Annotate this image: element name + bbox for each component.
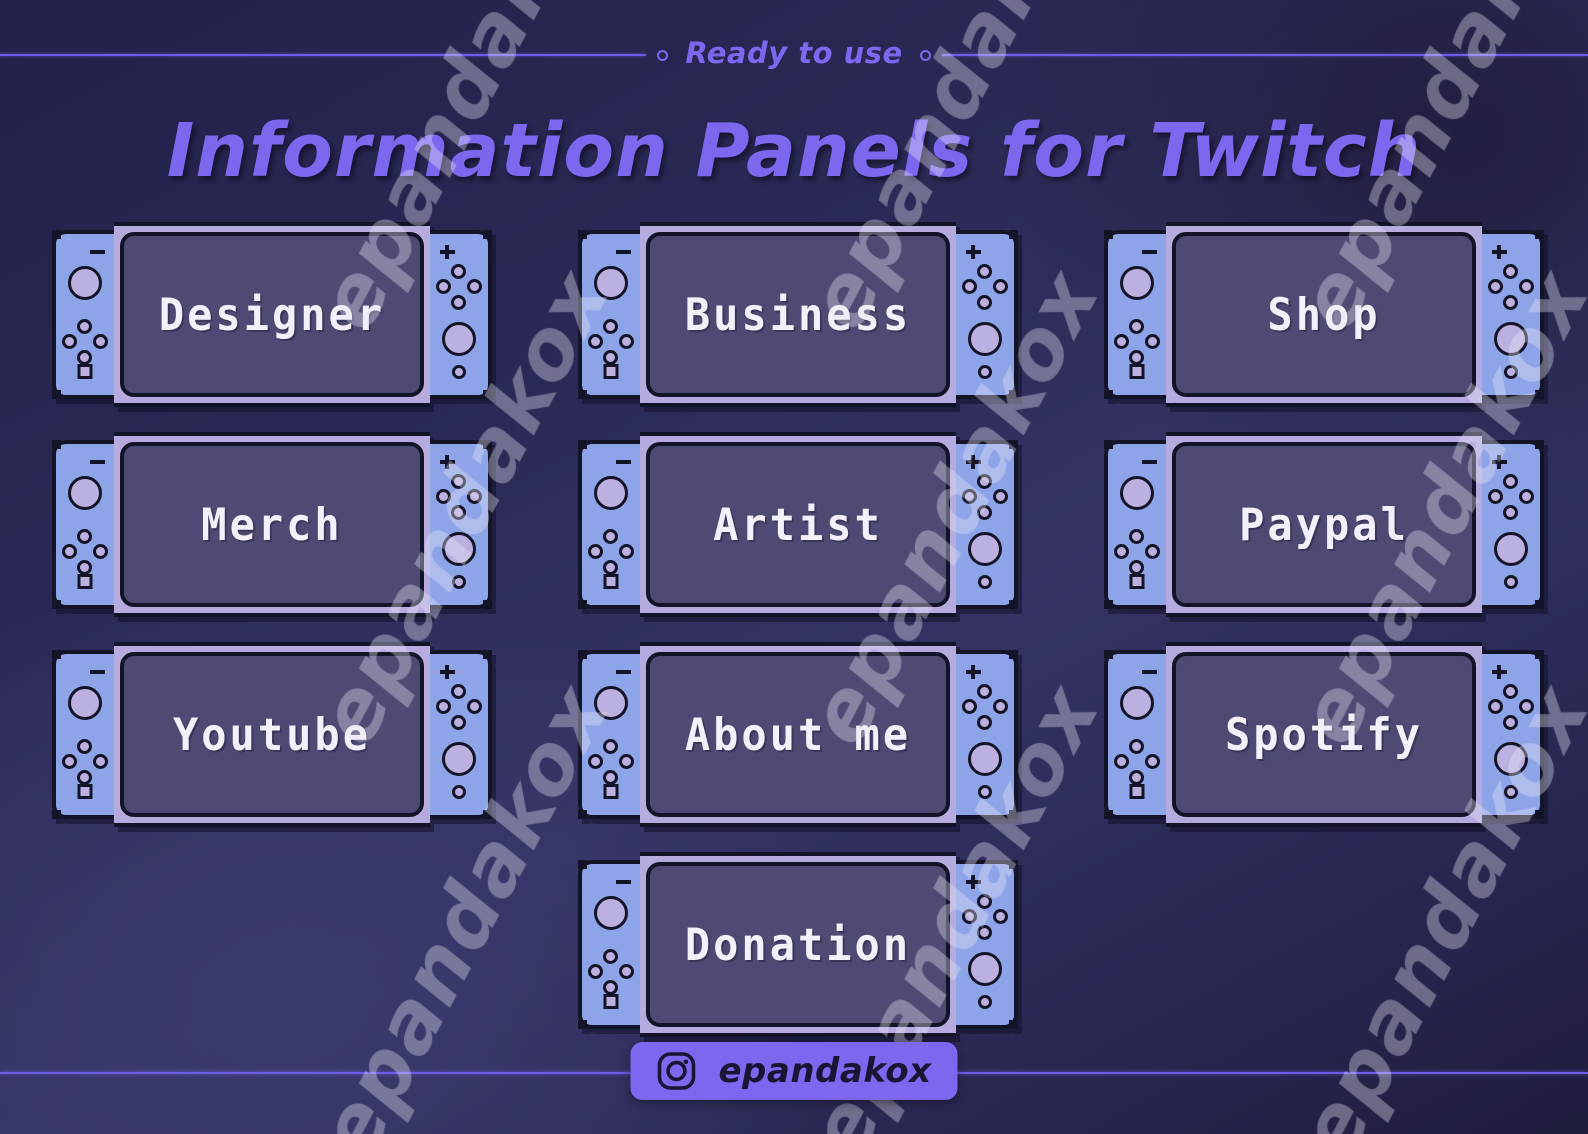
minus-button[interactable] [1141, 453, 1157, 469]
minus-button[interactable] [615, 453, 631, 469]
screen-display: Artist [646, 442, 950, 607]
corner-notch [578, 810, 587, 819]
home-circle-button[interactable] [1504, 575, 1518, 589]
screen-display: Designer [120, 232, 424, 397]
right-joycon[interactable] [956, 440, 1018, 609]
screen-bezel: Donation [640, 852, 956, 1037]
home-circle-button[interactable] [1504, 365, 1518, 379]
panel-shop[interactable]: Shop [1104, 222, 1544, 407]
instagram-handle-text: epandakox [718, 1051, 931, 1091]
corner-notch [483, 440, 492, 449]
analog-stick[interactable] [442, 322, 476, 356]
panel-artist[interactable]: Artist [578, 432, 1018, 617]
panel-business[interactable]: Business [578, 222, 1018, 407]
right-joycon[interactable] [1482, 440, 1544, 609]
corner-notch [1104, 600, 1113, 609]
right-joycon[interactable] [430, 230, 492, 399]
home-circle-button[interactable] [452, 785, 466, 799]
analog-stick[interactable] [968, 952, 1002, 986]
panel-label: Designer [159, 289, 385, 341]
capture-square-button[interactable] [604, 784, 619, 799]
dpad[interactable] [62, 739, 108, 785]
dpad[interactable] [588, 529, 634, 575]
panel-label: Paypal [1239, 499, 1409, 551]
dpad[interactable] [1114, 739, 1160, 785]
minus-button[interactable] [615, 243, 631, 259]
corner-notch [1009, 440, 1018, 449]
plus-button[interactable] [439, 243, 455, 259]
plus-button[interactable] [965, 663, 981, 679]
plus-button[interactable] [965, 243, 981, 259]
analog-stick[interactable] [442, 742, 476, 776]
analog-stick[interactable] [1494, 532, 1528, 566]
right-joycon[interactable] [956, 860, 1018, 1029]
corner-notch [1104, 440, 1113, 449]
analog-stick[interactable] [594, 896, 628, 930]
screen-bezel: Designer [114, 222, 430, 407]
panel-paypal[interactable]: Paypal [1104, 432, 1544, 617]
minus-button[interactable] [89, 453, 105, 469]
panel-merch[interactable]: Merch [52, 432, 492, 617]
analog-stick[interactable] [1494, 742, 1528, 776]
screen-bezel: Business [640, 222, 956, 407]
action-buttons[interactable] [436, 684, 482, 730]
plus-button[interactable] [965, 873, 981, 889]
right-joycon[interactable] [956, 650, 1018, 819]
left-joycon[interactable] [1104, 440, 1166, 609]
corner-notch [483, 600, 492, 609]
analog-stick[interactable] [1120, 476, 1154, 510]
minus-button[interactable] [615, 663, 631, 679]
screen-bezel: Merch [114, 432, 430, 617]
plus-button[interactable] [439, 663, 455, 679]
right-joycon[interactable] [1482, 230, 1544, 399]
corner-notch [483, 230, 492, 239]
minus-button[interactable] [1141, 243, 1157, 259]
screen-bezel: Youtube [114, 642, 430, 827]
instagram-icon [656, 1051, 696, 1091]
action-buttons[interactable] [1488, 474, 1534, 520]
corner-notch [1104, 390, 1113, 399]
panel-label: About me [685, 709, 911, 761]
panel-label: Spotify [1225, 709, 1423, 761]
action-buttons[interactable] [1488, 264, 1534, 310]
capture-square-button[interactable] [1130, 364, 1145, 379]
plus-button[interactable] [1491, 663, 1507, 679]
screen-bezel: Paypal [1166, 432, 1482, 617]
corner-notch [52, 440, 61, 449]
minus-button[interactable] [615, 873, 631, 889]
left-joycon[interactable] [1104, 650, 1166, 819]
dpad[interactable] [588, 949, 634, 995]
analog-stick[interactable] [594, 686, 628, 720]
circle-outline-icon [657, 50, 668, 61]
action-buttons[interactable] [436, 264, 482, 310]
corner-notch [1009, 600, 1018, 609]
corner-notch [1104, 650, 1113, 659]
plus-button[interactable] [965, 453, 981, 469]
screen-display: Business [646, 232, 950, 397]
screen-display: Paypal [1172, 442, 1476, 607]
action-buttons[interactable] [962, 264, 1008, 310]
corner-notch [1009, 390, 1018, 399]
minus-button[interactable] [1141, 663, 1157, 679]
right-joycon[interactable] [956, 230, 1018, 399]
analog-stick[interactable] [968, 322, 1002, 356]
corner-notch [578, 390, 587, 399]
right-joycon[interactable] [430, 650, 492, 819]
plus-button[interactable] [1491, 453, 1507, 469]
analog-stick[interactable] [968, 742, 1002, 776]
corner-notch [1535, 230, 1544, 239]
dpad[interactable] [62, 529, 108, 575]
corner-notch [483, 810, 492, 819]
panel-youtube[interactable]: Youtube [52, 642, 492, 827]
corner-notch [1009, 1020, 1018, 1029]
dpad[interactable] [62, 319, 108, 365]
dpad[interactable] [588, 319, 634, 365]
corner-notch [483, 390, 492, 399]
screen-bezel: About me [640, 642, 956, 827]
panel-spotify[interactable]: Spotify [1104, 642, 1544, 827]
left-joycon[interactable] [578, 650, 640, 819]
ready-to-use-label: Ready to use [679, 36, 908, 70]
screen-bezel: Artist [640, 432, 956, 617]
corner-notch [483, 650, 492, 659]
corner-notch [1535, 390, 1544, 399]
corner-notch [578, 1020, 587, 1029]
analog-stick[interactable] [968, 532, 1002, 566]
corner-notch [52, 810, 61, 819]
corner-notch [1009, 230, 1018, 239]
capture-square-button[interactable] [1130, 574, 1145, 589]
screen-display: Merch [120, 442, 424, 607]
divider-line-right [942, 54, 1588, 56]
dpad[interactable] [1114, 319, 1160, 365]
action-buttons[interactable] [962, 474, 1008, 520]
analog-stick[interactable] [1120, 686, 1154, 720]
minus-button[interactable] [89, 663, 105, 679]
capture-square-button[interactable] [78, 364, 93, 379]
analog-stick[interactable] [68, 686, 102, 720]
left-joycon[interactable] [578, 860, 640, 1029]
left-joycon[interactable] [578, 440, 640, 609]
screen-display: Spotify [1172, 652, 1476, 817]
left-joycon[interactable] [52, 650, 114, 819]
corner-notch [1009, 650, 1018, 659]
dpad[interactable] [588, 739, 634, 785]
analog-stick[interactable] [68, 476, 102, 510]
circle-outline-icon [920, 50, 931, 61]
panel-designer[interactable]: Designer [52, 222, 492, 407]
home-circle-button[interactable] [1504, 785, 1518, 799]
action-buttons[interactable] [1488, 684, 1534, 730]
corner-notch [1009, 810, 1018, 819]
analog-stick[interactable] [594, 266, 628, 300]
corner-notch [578, 230, 587, 239]
corner-notch [1535, 810, 1544, 819]
corner-notch [52, 650, 61, 659]
capture-square-button[interactable] [78, 574, 93, 589]
panel-grid: DesignerBusinessShopMerchArtistPaypalYou… [52, 222, 1536, 1037]
instagram-handle-badge[interactable]: epandakox [630, 1042, 957, 1100]
corner-notch [1104, 230, 1113, 239]
corner-notch [52, 390, 61, 399]
home-circle-button[interactable] [978, 575, 992, 589]
right-joycon[interactable] [1482, 650, 1544, 819]
corner-notch [578, 600, 587, 609]
panel-label: Shop [1267, 289, 1380, 341]
corner-notch [1009, 860, 1018, 869]
home-circle-button[interactable] [978, 995, 992, 1009]
top-divider: Ready to use [0, 54, 1588, 56]
panel-label: Youtube [173, 709, 371, 761]
corner-notch [578, 650, 587, 659]
analog-stick[interactable] [68, 266, 102, 300]
action-buttons[interactable] [962, 894, 1008, 940]
plus-button[interactable] [1491, 243, 1507, 259]
minus-button[interactable] [89, 243, 105, 259]
corner-notch [578, 440, 587, 449]
capture-square-button[interactable] [78, 784, 93, 799]
analog-stick[interactable] [1120, 266, 1154, 300]
corner-notch [1104, 810, 1113, 819]
corner-notch [52, 600, 61, 609]
panel-label: Artist [713, 499, 883, 551]
action-buttons[interactable] [436, 474, 482, 520]
analog-stick[interactable] [442, 532, 476, 566]
corner-notch [1535, 650, 1544, 659]
corner-notch [1535, 600, 1544, 609]
corner-notch [1535, 440, 1544, 449]
analog-stick[interactable] [1494, 322, 1528, 356]
panel-label: Merch [201, 499, 342, 551]
capture-square-button[interactable] [604, 994, 619, 1009]
analog-stick[interactable] [594, 476, 628, 510]
screen-display: Shop [1172, 232, 1476, 397]
screen-bezel: Shop [1166, 222, 1482, 407]
home-circle-button[interactable] [978, 365, 992, 379]
screen-bezel: Spotify [1166, 642, 1482, 827]
dpad[interactable] [1114, 529, 1160, 575]
right-joycon[interactable] [430, 440, 492, 609]
panel-label: Business [685, 289, 911, 341]
left-joycon[interactable] [1104, 230, 1166, 399]
left-joycon[interactable] [52, 440, 114, 609]
capture-square-button[interactable] [604, 574, 619, 589]
divider-line-left [0, 54, 646, 56]
panel-label: Donation [685, 919, 911, 971]
capture-square-button[interactable] [1130, 784, 1145, 799]
corner-notch [578, 860, 587, 869]
screen-display: Donation [646, 862, 950, 1027]
page-title: Information Panels for Twitch [0, 108, 1588, 194]
home-circle-button[interactable] [978, 785, 992, 799]
home-circle-button[interactable] [452, 365, 466, 379]
screen-display: Youtube [120, 652, 424, 817]
home-circle-button[interactable] [452, 575, 466, 589]
corner-notch [52, 230, 61, 239]
capture-square-button[interactable] [604, 364, 619, 379]
left-joycon[interactable] [578, 230, 640, 399]
plus-button[interactable] [439, 453, 455, 469]
screen-display: About me [646, 652, 950, 817]
action-buttons[interactable] [962, 684, 1008, 730]
left-joycon[interactable] [52, 230, 114, 399]
panel-about-me[interactable]: About me [578, 642, 1018, 827]
panel-donation[interactable]: Donation [578, 852, 1018, 1037]
